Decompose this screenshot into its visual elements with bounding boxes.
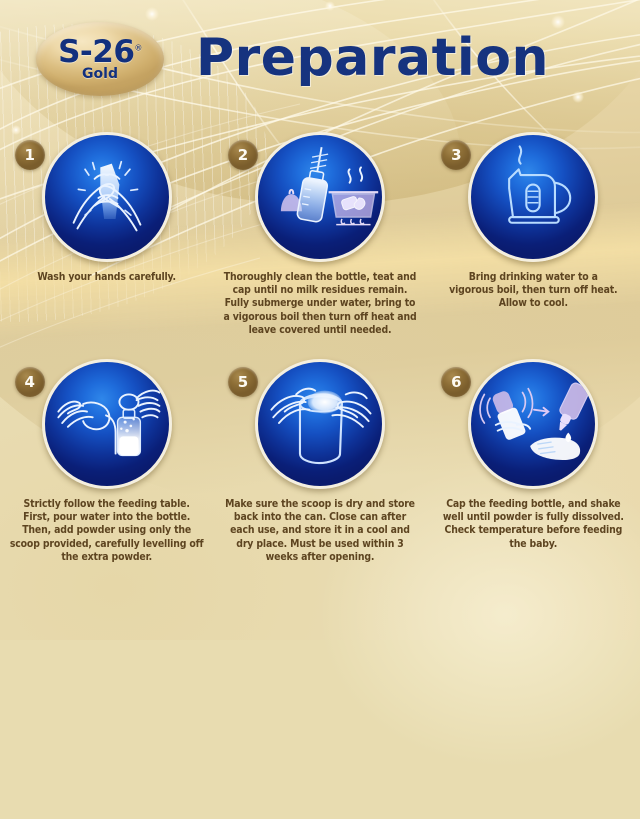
step-2-illustration: 2	[255, 132, 385, 262]
step-3-illustration: 3	[468, 132, 598, 262]
registered-trademark-icon: ®	[134, 43, 142, 52]
step-5-number-badge: 5	[228, 367, 258, 397]
step-6-caption: Cap the feeding bottle, and shake well u…	[435, 498, 631, 551]
step-3: 3	[427, 132, 640, 337]
step-1-number-badge: 1	[15, 140, 45, 170]
shake-bottle-and-test-temperature-icon	[468, 359, 598, 489]
step-4-number-badge: 4	[15, 367, 45, 397]
step-4-caption: Strictly follow the feeding table. First…	[9, 498, 205, 564]
step-6-number-badge: 6	[441, 367, 471, 397]
bottle-brush-and-boiling-pot-icon	[255, 132, 385, 262]
step-5-illustration: 5	[255, 359, 385, 489]
dry-scoop-store-in-can-icon	[255, 359, 385, 489]
s26-gold-logo: S-26® Gold	[36, 22, 164, 96]
preparation-steps-grid: 1	[0, 132, 640, 564]
step-1-illustration: 1	[42, 132, 172, 262]
logo-brand-name: S-26®	[58, 38, 142, 67]
step-3-number-badge: 3	[441, 140, 471, 170]
electric-kettle-icon	[468, 132, 598, 262]
step-6: 6	[427, 359, 640, 564]
step-5: 5	[213, 359, 426, 564]
step-2: 2	[213, 132, 426, 337]
header: S-26® Gold Preparation	[0, 0, 640, 120]
step-2-caption: Thoroughly clean the bottle, teat and ca…	[222, 271, 418, 337]
step-6-illustration: 6	[468, 359, 598, 489]
step-4-illustration: 4	[42, 359, 172, 489]
step-3-caption: Bring drinking water to a vigorous boil,…	[446, 271, 621, 311]
washing-hands-icon	[42, 132, 172, 262]
step-2-number-badge: 2	[228, 140, 258, 170]
page-title: Preparation	[196, 28, 549, 88]
step-4: 4	[0, 359, 213, 564]
pour-water-and-add-scoop-icon	[42, 359, 172, 489]
step-1-caption: Wash your hands carefully.	[19, 271, 194, 284]
step-5-caption: Make sure the scoop is dry and store bac…	[222, 498, 418, 564]
step-1: 1	[0, 132, 213, 337]
